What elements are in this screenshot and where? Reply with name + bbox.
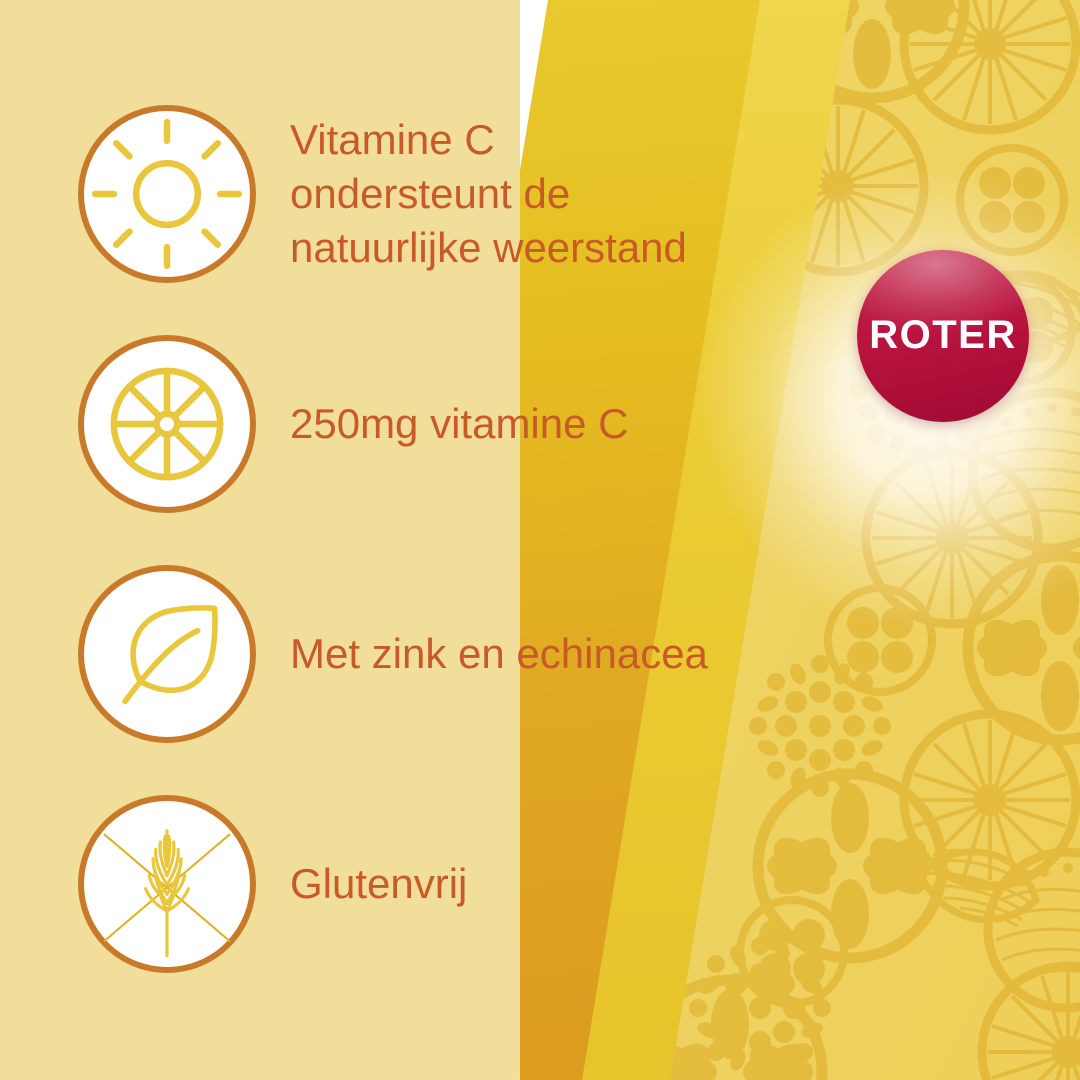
feature-label: Glutenvrij (290, 857, 467, 911)
gluten-free-wheat-icon (78, 795, 256, 973)
feature-label: 250mg vitamine C (290, 397, 628, 451)
feature-label: Met zink en echinacea (290, 627, 708, 681)
feature-item-zinc-echinacea: Met zink en echinacea (78, 565, 708, 743)
feature-item-dosage: 250mg vitamine C (78, 335, 628, 513)
leaf-icon (78, 565, 256, 743)
feature-item-gluten-free: Glutenvrij (78, 795, 467, 973)
roter-brand-badge[interactable]: ROTER (857, 250, 1029, 422)
roter-badge-label: ROTER (869, 315, 1017, 355)
lemon-slice-icon (78, 335, 256, 513)
feature-list: Vitamine C ondersteunt de natuurlijke we… (0, 0, 760, 1080)
sun-icon (78, 105, 256, 283)
feature-label: Vitamine C ondersteunt de natuurlijke we… (290, 113, 687, 275)
feature-item-vitamine-c: Vitamine C ondersteunt de natuurlijke we… (78, 105, 687, 283)
infographic-canvas: ROTER (0, 0, 1080, 1080)
